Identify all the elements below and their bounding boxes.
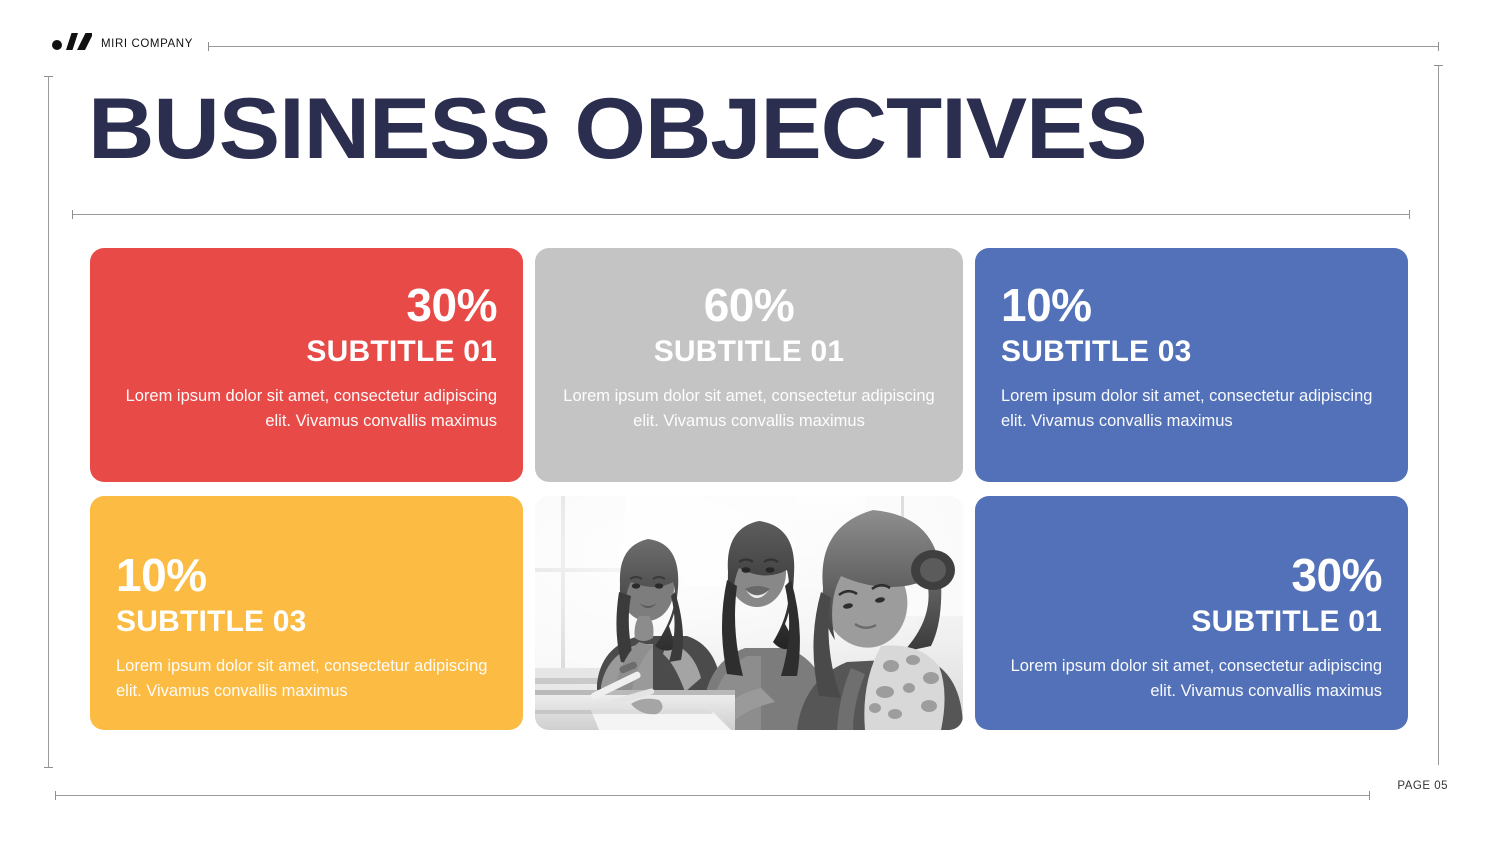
left-frame-rule-top-cap <box>44 76 53 77</box>
footer-rule-start-tick <box>55 791 56 800</box>
right-frame-rule <box>1438 65 1439 765</box>
title-underline-end-tick <box>1409 210 1410 219</box>
objective-body: Lorem ipsum dolor sit amet, consectetur … <box>1001 654 1382 704</box>
objectives-grid: 30% SUBTITLE 01 Lorem ipsum dolor sit am… <box>90 248 1408 730</box>
objective-body: Lorem ipsum dolor sit amet, consectetur … <box>116 654 497 704</box>
right-frame-rule-cap <box>1434 65 1443 66</box>
objective-card-blue-bottom[interactable]: 30% SUBTITLE 01 Lorem ipsum dolor sit am… <box>975 496 1408 730</box>
objective-card-yellow[interactable]: 10% SUBTITLE 03 Lorem ipsum dolor sit am… <box>90 496 523 730</box>
objective-card-gray[interactable]: 60% SUBTITLE 01 Lorem ipsum dolor sit am… <box>535 248 963 482</box>
objective-subtitle: SUBTITLE 03 <box>1001 334 1382 370</box>
objectives-row-2: 10% SUBTITLE 03 Lorem ipsum dolor sit am… <box>90 496 1408 730</box>
footer-rule <box>55 795 1370 796</box>
header-rule-end-tick <box>1438 42 1439 51</box>
objective-subtitle: SUBTITLE 03 <box>116 604 497 640</box>
objective-subtitle: SUBTITLE 01 <box>116 334 497 370</box>
brand-lockup: MIRI COMPANY <box>52 33 193 55</box>
objective-percent: 10% <box>116 552 497 598</box>
objective-card-red[interactable]: 30% SUBTITLE 01 Lorem ipsum dolor sit am… <box>90 248 523 482</box>
objective-body: Lorem ipsum dolor sit amet, consectetur … <box>1001 384 1382 434</box>
objective-percent: 10% <box>1001 282 1382 328</box>
objective-body: Lorem ipsum dolor sit amet, consectetur … <box>561 384 937 434</box>
brand-name: MIRI COMPANY <box>101 38 193 50</box>
objective-subtitle: SUBTITLE 01 <box>561 334 937 370</box>
title-underline-rule <box>72 214 1410 215</box>
left-frame-rule <box>48 76 49 768</box>
page-number: PAGE 05 <box>1397 780 1448 792</box>
header-rule-start-tick <box>208 42 209 51</box>
objective-subtitle: SUBTITLE 01 <box>1001 604 1382 640</box>
objectives-row-1: 30% SUBTITLE 01 Lorem ipsum dolor sit am… <box>90 248 1408 482</box>
left-frame-rule-bottom-cap <box>44 767 53 768</box>
objective-card-blue-top[interactable]: 10% SUBTITLE 03 Lorem ipsum dolor sit am… <box>975 248 1408 482</box>
objective-percent: 30% <box>116 282 497 328</box>
team-photo <box>535 496 963 730</box>
objective-percent: 30% <box>1001 552 1382 598</box>
slide-canvas: MIRI COMPANY BUSINESS OBJECTIVES 30% SUB… <box>0 0 1500 844</box>
miri-slanted-bars-logo-icon <box>52 33 92 55</box>
footer-rule-end-tick <box>1369 791 1370 800</box>
title-underline-start-tick <box>72 210 73 219</box>
page-title: BUSINESS OBJECTIVES <box>88 86 1147 172</box>
header-rule-horizontal <box>208 46 1438 47</box>
objective-percent: 60% <box>561 282 937 328</box>
objective-body: Lorem ipsum dolor sit amet, consectetur … <box>116 384 497 434</box>
